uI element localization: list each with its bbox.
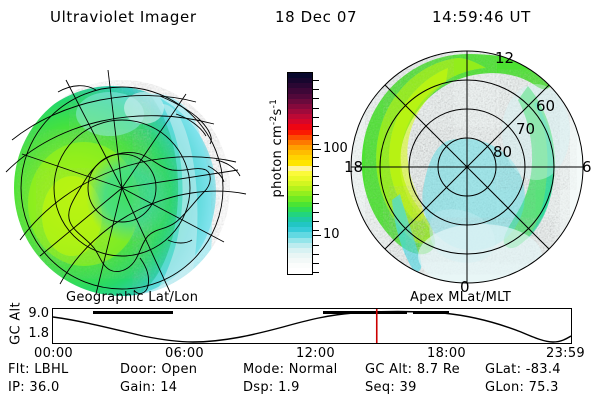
colorbar-minor-tick (313, 157, 319, 158)
colorbar-minor-tick (313, 263, 319, 264)
colorbar-minor-tick (313, 230, 319, 231)
geographic-polar-image[interactable] (0, 44, 250, 296)
apex-polar-svg: 12 18 6 0 60 70 80 (340, 44, 600, 296)
geographic-plot-subtitle: Geographic Lat/Lon (66, 290, 198, 305)
colorbar-gradient (287, 72, 313, 275)
coverage-segment (93, 311, 173, 314)
colorbar-minor-tick (313, 254, 319, 255)
colorbar-minor-tick (313, 203, 319, 204)
orbit-ytick-low: 1.8 (15, 326, 49, 341)
status-field-key: Seq: (365, 380, 400, 395)
mlat-label-70: 70 (516, 120, 535, 138)
mlt-label-18: 18 (344, 158, 363, 176)
colorbar-swatch (288, 268, 312, 273)
status-field: GC Alt: 8.7 Re (365, 362, 460, 377)
status-field: Door: Open (120, 362, 197, 377)
orbit-ytick-high: 9.0 (15, 306, 49, 321)
status-field-value: 75.3 (529, 380, 559, 395)
coverage-segment (413, 311, 449, 314)
mlt-label-6: 6 (582, 158, 592, 176)
observation-time: 14:59:46 UT (432, 8, 531, 26)
orbit-altitude-svg (53, 309, 571, 343)
mlt-label-12: 12 (495, 49, 514, 67)
colorbar-minor-tick (313, 144, 319, 145)
header-bar: Ultraviolet Imager 18 Dec 07 14:59:46 UT (0, 4, 600, 30)
geographic-polar-svg (0, 44, 250, 296)
status-field-key: IP: (8, 380, 29, 395)
status-field-key: GC Alt: (365, 362, 417, 377)
altitude-trace (53, 312, 571, 343)
colorbar-minor-tick (313, 221, 319, 222)
colorbar-minor-tick (313, 212, 319, 213)
status-field-key: Door: (120, 362, 161, 377)
colorbar-minor-tick (313, 185, 319, 186)
apex-plot-subtitle: Apex MLat/MLT (410, 290, 511, 305)
status-field: Mode: Normal (243, 362, 338, 377)
status-readout: Flt: LBHLDoor: OpenMode: NormalGC Alt: 8… (0, 358, 600, 400)
colorbar-ticks (313, 72, 321, 275)
status-field-value: Normal (289, 362, 338, 377)
status-field: Flt: LBHL (8, 362, 69, 377)
colorbar: photon cm-2s-1 10010 (250, 44, 340, 296)
status-field: Dsp: 1.9 (243, 380, 300, 395)
colorbar-minor-tick (313, 89, 319, 90)
status-field-value: 8.7 Re (417, 362, 460, 377)
colorbar-axis-label: photon cm-2s-1 (269, 73, 285, 223)
colorbar-minor-tick (313, 272, 319, 273)
colorbar-minor-tick (313, 80, 319, 81)
status-field-value: -83.4 (526, 362, 561, 377)
status-field-value: 14 (160, 380, 177, 395)
colorbar-label-exp2: -1 (269, 99, 279, 109)
status-field-value: Open (161, 362, 197, 377)
status-field-value: LBHL (34, 362, 68, 377)
colorbar-label-main: photon cm (270, 125, 285, 197)
mlat-label-80: 80 (493, 143, 512, 161)
status-field-key: GLon: (485, 380, 529, 395)
orbit-altitude-section: Geographic Lat/Lon Apex MLat/MLT GC Alt … (0, 290, 600, 358)
status-field: GLat: -83.4 (485, 362, 561, 377)
colorbar-minor-tick (313, 176, 319, 177)
status-field: Gain: 14 (120, 380, 177, 395)
status-field-key: Gain: (120, 380, 160, 395)
colorbar-major-tick (313, 235, 321, 236)
observation-date: 18 Dec 07 (275, 8, 357, 26)
colorbar-tick-label: 10 (323, 227, 340, 242)
status-field-value: 39 (400, 380, 417, 395)
colorbar-minor-tick (313, 194, 319, 195)
colorbar-label-mid: s (270, 108, 285, 115)
status-field-key: Dsp: (243, 380, 278, 395)
apex-polar-image[interactable]: 12 18 6 0 60 70 80 (340, 44, 600, 296)
colorbar-minor-tick (313, 117, 319, 118)
colorbar-label-exp1: -2 (269, 116, 279, 126)
status-field-key: Flt: (8, 362, 34, 377)
colorbar-minor-tick (313, 98, 319, 99)
status-field: Seq: 39 (365, 380, 417, 395)
apex-graticule (351, 51, 583, 283)
instrument-title: Ultraviolet Imager (50, 8, 197, 26)
colorbar-minor-tick (313, 135, 319, 136)
colorbar-minor-tick (313, 108, 319, 109)
coverage-segment (323, 311, 407, 314)
mlat-label-60: 60 (536, 97, 555, 115)
colorbar-minor-tick (313, 166, 319, 167)
geographic-intensity-field (0, 44, 250, 296)
colorbar-minor-tick (313, 126, 319, 127)
status-field-key: Mode: (243, 362, 289, 377)
status-field-key: GLat: (485, 362, 526, 377)
colorbar-major-tick (313, 149, 321, 150)
status-field: IP: 36.0 (8, 380, 60, 395)
status-field-value: 36.0 (29, 380, 59, 395)
orbit-altitude-plot[interactable] (52, 308, 572, 344)
status-field: GLon: 75.3 (485, 380, 559, 395)
status-field-value: 1.9 (278, 380, 300, 395)
colorbar-minor-tick (313, 245, 319, 246)
